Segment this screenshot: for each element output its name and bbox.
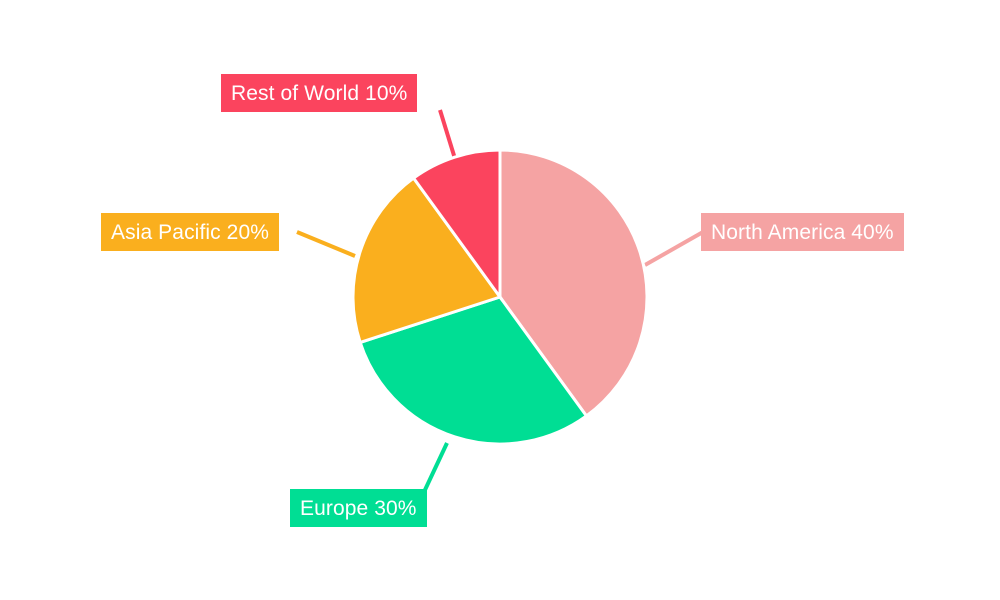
pie-label-rest-of-world: Rest of World 10% <box>221 74 417 112</box>
pie-label-north-america: North America 40% <box>701 213 904 251</box>
leader-line-rest-of-world <box>440 110 456 162</box>
pie-chart-figure: North America 40% Europe 30% Asia Pacifi… <box>0 0 1000 600</box>
pie-chart-canvas <box>0 0 1000 600</box>
leader-line-north-america <box>645 232 703 265</box>
pie-label-text: Rest of World 10% <box>231 83 407 104</box>
pie-label-asia-pacific: Asia Pacific 20% <box>101 213 279 251</box>
pie-label-europe: Europe 30% <box>290 489 427 527</box>
pie-label-text: Asia Pacific 20% <box>111 222 269 243</box>
pie-label-text: North America 40% <box>711 222 894 243</box>
pie-slices <box>353 150 647 444</box>
leader-line-asia-pacific <box>297 232 355 256</box>
pie-label-text: Europe 30% <box>300 498 417 519</box>
leader-line-europe <box>424 443 447 492</box>
